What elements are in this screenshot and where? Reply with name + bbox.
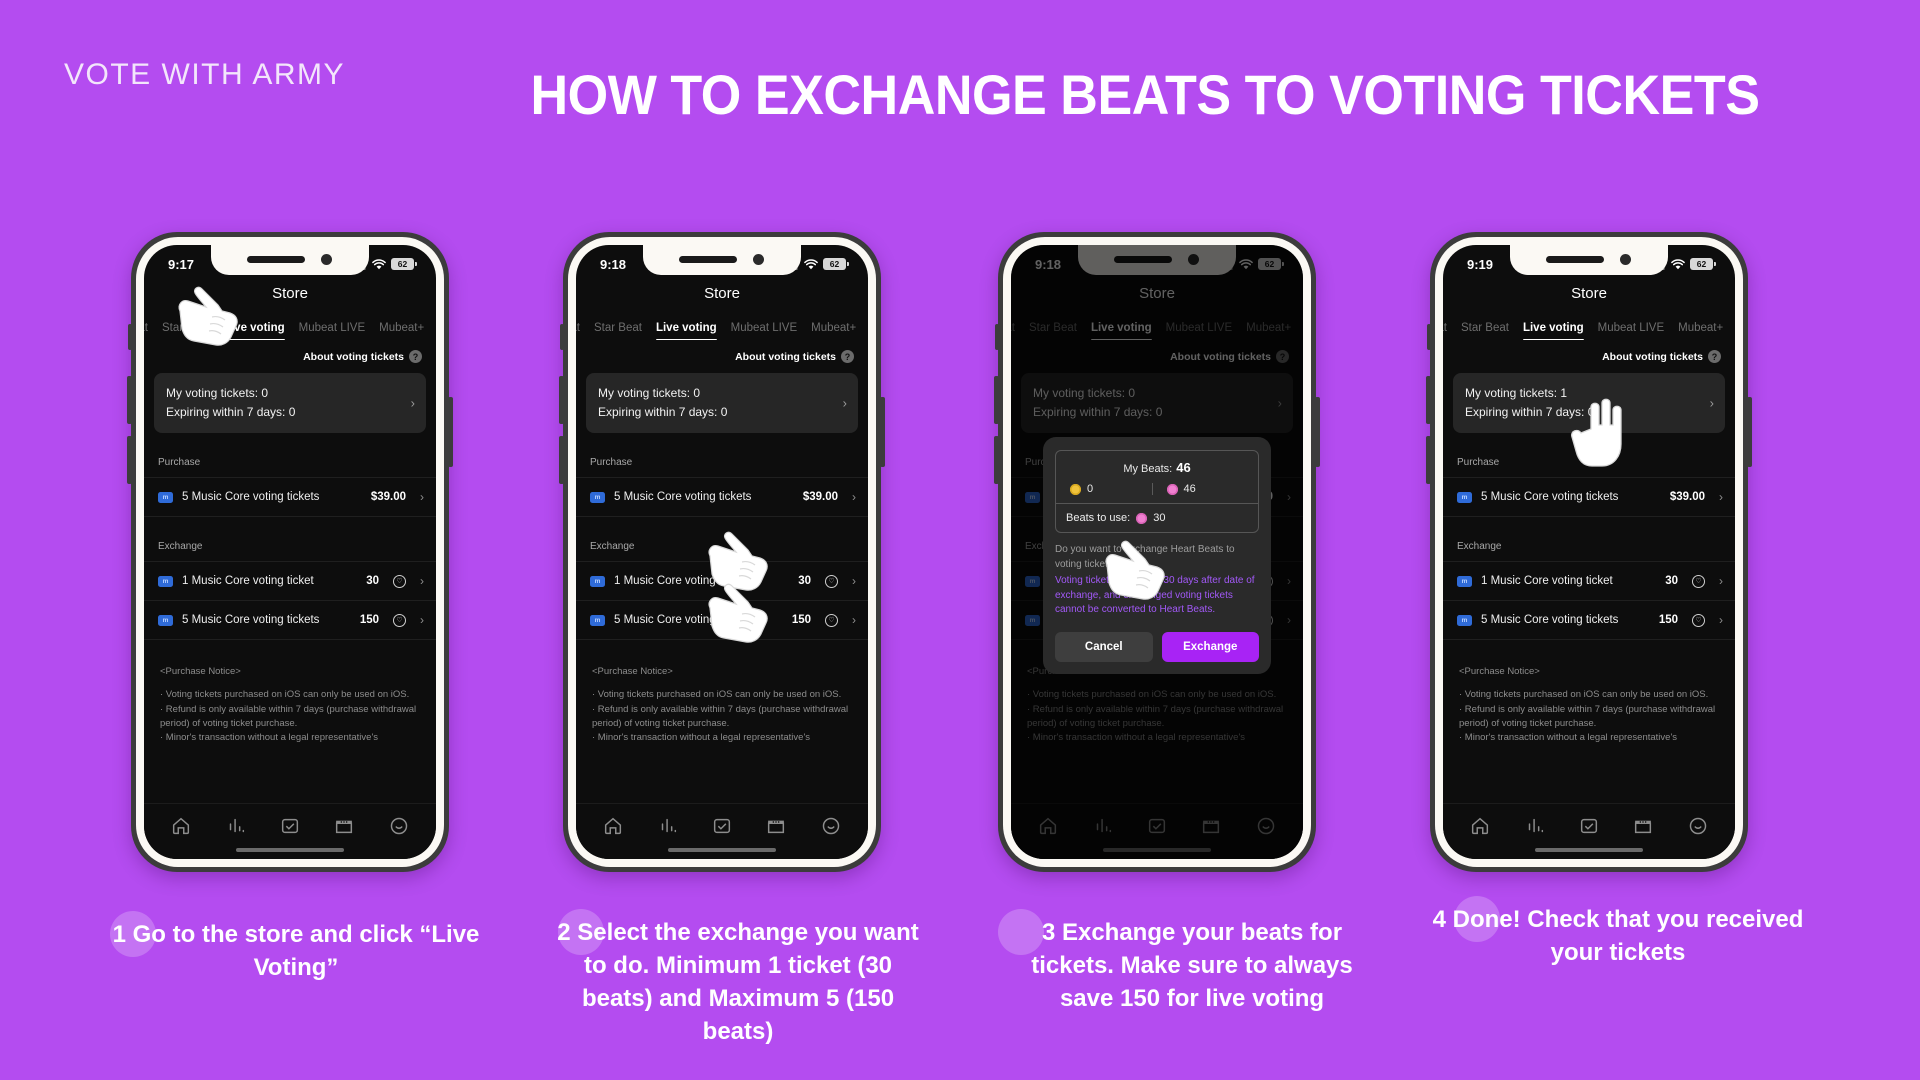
app-title: Store xyxy=(576,279,868,310)
store-icon[interactable] xyxy=(765,815,787,837)
exchange-item-label: 5 Music Core voting tickets xyxy=(1481,614,1650,626)
exchange-item-label: 1 Music Core voting ticket xyxy=(614,575,789,587)
chevron-right-icon[interactable]: › xyxy=(852,613,856,627)
tab-live-voting[interactable]: Live voting xyxy=(656,322,717,340)
exchange-item-label: 1 Music Core voting ticket xyxy=(1481,575,1656,587)
mute-switch[interactable] xyxy=(1427,324,1431,350)
exchange-item-price: 150 xyxy=(1659,614,1678,626)
exchange-item-label: 1 Music Core voting ticket xyxy=(182,575,357,587)
my-beats-label: My Beats: xyxy=(1123,463,1172,475)
purchase-notice: <Purchase Notice> · Voting tickets purch… xyxy=(1443,640,1735,745)
heart-beat-icon: ♡ xyxy=(1692,614,1705,627)
exchange-item-price: 150 xyxy=(792,614,811,626)
tab-live-voting[interactable]: Live voting xyxy=(224,322,285,340)
my-tickets-card[interactable]: My voting tickets: 1 Expiring within 7 d… xyxy=(1453,373,1725,433)
gold-beats-value: 0 xyxy=(1087,483,1093,495)
mubeat-ticket-icon: m xyxy=(1457,615,1472,626)
status-time: 9:18 xyxy=(600,257,626,272)
exchange-row-1[interactable]: m 1 Music Core voting ticket 30 ♡ › xyxy=(144,561,436,601)
poster-root: VOTE WITH ARMY HOW TO EXCHANGE BEATS TO … xyxy=(0,0,1920,1080)
pink-beats-value: 46 xyxy=(1184,483,1196,495)
page-title: HOW TO EXCHANGE BEATS TO VOTING TICKETS xyxy=(471,62,1820,127)
my-voting-tickets-line: My voting tickets: 1 xyxy=(1465,384,1713,403)
about-voting-tickets-link[interactable]: About voting tickets ? xyxy=(576,340,868,371)
power-button[interactable] xyxy=(1747,397,1752,467)
purchase-row[interactable]: m 5 Music Core voting tickets $39.00 › xyxy=(1443,477,1735,517)
question-mark-icon[interactable]: ? xyxy=(409,350,422,363)
mubeat-ticket-icon: m xyxy=(158,615,173,626)
wifi-icon xyxy=(372,259,386,270)
tab-bar: eat Star Beat Live voting Mubeat LIVE Mu… xyxy=(144,310,436,340)
exchange-item-label: 5 Music Core voting tickets xyxy=(182,614,351,626)
phone-screen: 9:17 62 Store eat Star Beat Live voting … xyxy=(144,245,436,859)
tab-star-beat[interactable]: Star Beat xyxy=(594,322,642,340)
mubeat-ticket-icon: m xyxy=(158,492,173,503)
chart-bars-icon[interactable] xyxy=(225,815,247,837)
notice-line: · Refund is only available within 7 days… xyxy=(1459,703,1719,731)
chevron-right-icon[interactable]: › xyxy=(420,490,424,504)
mubeat-ticket-icon: m xyxy=(590,615,605,626)
about-label: About voting tickets xyxy=(1602,351,1703,363)
notch xyxy=(643,245,801,275)
home-indicator xyxy=(668,848,776,852)
captions-row: 1 Go to the store and click “Live Voting… xyxy=(0,900,1920,1080)
step-number: 4 xyxy=(1433,906,1446,933)
caption-4: 4 Done! Check that you received your tic… xyxy=(1428,904,1808,970)
store-icon[interactable] xyxy=(1632,815,1654,837)
heart-beat-icon xyxy=(1167,484,1178,495)
modal-warning-text: Voting tickets will expire 30 days after… xyxy=(1055,574,1259,618)
phone-screen: 9:18 62 Store eat Star Beat Live voting … xyxy=(576,245,868,859)
tab-beat[interactable]: eat xyxy=(1443,322,1447,340)
section-purchase-label: Purchase xyxy=(576,433,868,477)
app-title: Store xyxy=(144,279,436,310)
exchange-row-1[interactable]: m 1 Music Core voting ticket 30 ♡ › xyxy=(576,561,868,601)
power-button[interactable] xyxy=(448,397,453,467)
my-voting-tickets-line: My voting tickets: 0 xyxy=(598,384,846,403)
modal-question-text: Do you want to exchange Heart Beats to v… xyxy=(1055,543,1259,572)
mubeat-ticket-icon: m xyxy=(1457,492,1472,503)
chevron-right-icon[interactable]: › xyxy=(1719,613,1723,627)
heart-beat-icon xyxy=(1136,513,1147,524)
purchase-row[interactable]: m 5 Music Core voting tickets $39.00 › xyxy=(576,477,868,517)
volume-up-button[interactable] xyxy=(994,376,999,424)
question-mark-icon[interactable]: ? xyxy=(841,350,854,363)
checkbox-icon[interactable] xyxy=(711,815,733,837)
step-number-circle xyxy=(1454,896,1500,942)
exchange-item-label: 5 Music Core voting tickets xyxy=(614,614,783,626)
mute-switch[interactable] xyxy=(128,324,132,350)
gold-beat-icon xyxy=(1070,484,1081,495)
notice-line: · Minor's transaction without a legal re… xyxy=(592,731,852,745)
my-tickets-card[interactable]: My voting tickets: 0 Expiring within 7 d… xyxy=(586,373,858,433)
exchange-item-price: 30 xyxy=(1665,575,1678,587)
tab-mubeat-live[interactable]: Mubeat LIVE xyxy=(731,322,797,340)
purchase-item-price: $39.00 xyxy=(371,491,406,503)
about-voting-tickets-link[interactable]: About voting tickets ? xyxy=(1443,340,1735,371)
exchange-item-price: 150 xyxy=(360,614,379,626)
beats-to-use-label: Beats to use: xyxy=(1066,512,1130,524)
notch xyxy=(211,245,369,275)
notice-line: · Refund is only available within 7 days… xyxy=(592,703,852,731)
notice-line: · Minor's transaction without a legal re… xyxy=(1459,731,1719,745)
phones-row: 9:17 62 Store eat Star Beat Live voting … xyxy=(0,232,1920,872)
heart-beat-icon: ♡ xyxy=(393,614,406,627)
tab-mubeat-plus[interactable]: Mubeat+ xyxy=(811,322,856,340)
checkbox-icon[interactable] xyxy=(1578,815,1600,837)
heart-beat-icon: ♡ xyxy=(825,575,838,588)
step-number: 2 xyxy=(557,919,570,946)
beats-summary-box: My Beats:46 0 46 xyxy=(1055,450,1259,533)
exchange-item-price: 30 xyxy=(798,575,811,587)
about-label: About voting tickets xyxy=(735,351,836,363)
bottom-navigation-bar xyxy=(1443,803,1735,859)
my-tickets-card[interactable]: My voting tickets: 0 Expiring within 7 d… xyxy=(154,373,426,433)
purchase-item-price: $39.00 xyxy=(1670,491,1705,503)
purchase-item-label: 5 Music Core voting tickets xyxy=(182,491,362,503)
home-icon[interactable] xyxy=(1469,815,1491,837)
step-number-circle xyxy=(998,909,1044,955)
chevron-right-icon[interactable]: › xyxy=(852,490,856,504)
caption-1: 1 Go to the store and click “Live Voting… xyxy=(110,919,482,985)
phone-mockup-3: 9:18 62 Store eat Star Beat Live voting … xyxy=(998,232,1316,872)
beats-to-use-value: 30 xyxy=(1153,512,1165,524)
battery-indicator: 62 xyxy=(391,258,414,270)
tab-beat[interactable]: eat xyxy=(576,322,580,340)
wifi-icon xyxy=(1671,259,1685,270)
home-indicator xyxy=(236,848,344,852)
pink-beats-group: 46 xyxy=(1152,483,1249,495)
battery-indicator: 62 xyxy=(1690,258,1713,270)
caption-2: 2 Select the exchange you want to do. Mi… xyxy=(548,917,928,1049)
chevron-right-icon[interactable]: › xyxy=(420,613,424,627)
bottom-navigation-bar xyxy=(576,803,868,859)
front-camera-icon xyxy=(1620,254,1631,265)
notice-line: · Voting tickets purchased on iOS can on… xyxy=(160,688,420,702)
chevron-right-icon[interactable]: › xyxy=(1719,490,1723,504)
mubeat-ticket-icon: m xyxy=(590,492,605,503)
mubeat-ticket-icon: m xyxy=(1457,576,1472,587)
tab-star-beat[interactable]: Star Beat xyxy=(1461,322,1509,340)
front-camera-icon xyxy=(321,254,332,265)
tab-live-voting[interactable]: Live voting xyxy=(1523,322,1584,340)
caption-text: Exchange your beats for tickets. Make su… xyxy=(1031,919,1353,1012)
volume-up-button[interactable] xyxy=(127,376,132,424)
tab-mubeat-live[interactable]: Mubeat LIVE xyxy=(1598,322,1664,340)
bottom-navigation-bar xyxy=(144,803,436,859)
tab-bar: eat Star Beat Live voting Mubeat LIVE Mu… xyxy=(576,310,868,340)
notice-title: <Purchase Notice> xyxy=(1459,666,1719,677)
purchase-row[interactable]: m 5 Music Core voting tickets $39.00 › xyxy=(144,477,436,517)
expiring-tickets-line: Expiring within 7 days: 0 xyxy=(598,403,846,422)
phone-screen: 9:18 62 Store eat Star Beat Live voting … xyxy=(1011,245,1303,859)
gold-beats-group: 0 xyxy=(1066,483,1152,495)
tab-beat[interactable]: eat xyxy=(144,322,148,340)
tab-star-beat[interactable]: Star Beat xyxy=(162,322,210,340)
phone-mockup-4: 9:19 62 Store eat Star Beat Live voting … xyxy=(1430,232,1748,872)
store-icon[interactable] xyxy=(333,815,355,837)
step-number: 3 xyxy=(1042,919,1055,946)
chevron-right-icon[interactable]: › xyxy=(852,574,856,588)
about-label: About voting tickets xyxy=(303,351,404,363)
purchase-item-label: 5 Music Core voting tickets xyxy=(1481,491,1661,503)
home-icon[interactable] xyxy=(602,815,624,837)
exchange-button[interactable]: Exchange xyxy=(1162,632,1260,662)
brand-label: VOTE WITH ARMY xyxy=(64,58,345,92)
exchange-row-2[interactable]: m 5 Music Core voting tickets 150 ♡ › xyxy=(576,601,868,640)
earpiece-speaker xyxy=(247,256,305,263)
notice-line: · Refund is only available within 7 days… xyxy=(160,703,420,731)
volume-up-button[interactable] xyxy=(1426,376,1431,424)
tab-mubeat-plus[interactable]: Mubeat+ xyxy=(379,322,424,340)
status-time: 9:17 xyxy=(168,257,194,272)
chevron-right-icon[interactable]: › xyxy=(411,396,415,411)
home-indicator xyxy=(1535,848,1643,852)
earpiece-speaker xyxy=(679,256,737,263)
smiley-icon[interactable] xyxy=(1687,815,1709,837)
caption-text: Select the exchange you want to do. Mini… xyxy=(577,919,918,1045)
purchase-notice: <Purchase Notice> · Voting tickets purch… xyxy=(576,640,868,745)
phone-screen: 9:19 62 Store eat Star Beat Live voting … xyxy=(1443,245,1735,859)
power-button[interactable] xyxy=(1315,397,1320,467)
volume-down-button[interactable] xyxy=(994,436,999,484)
chart-bars-icon[interactable] xyxy=(657,815,679,837)
tab-bar: eat Star Beat Live voting Mubeat LIVE Mu… xyxy=(1443,310,1735,340)
chevron-right-icon[interactable]: › xyxy=(420,574,424,588)
notice-title: <Purchase Notice> xyxy=(160,666,420,677)
question-mark-icon[interactable]: ? xyxy=(1708,350,1721,363)
notice-line: · Voting tickets purchased on iOS can on… xyxy=(1459,688,1719,702)
volume-down-button[interactable] xyxy=(559,436,564,484)
battery-indicator: 62 xyxy=(823,258,846,270)
volume-down-button[interactable] xyxy=(127,436,132,484)
my-voting-tickets-line: My voting tickets: 0 xyxy=(166,384,414,403)
my-beats-value: 46 xyxy=(1176,460,1190,475)
tab-mubeat-live[interactable]: Mubeat LIVE xyxy=(299,322,365,340)
purchase-item-price: $39.00 xyxy=(803,491,838,503)
smiley-icon[interactable] xyxy=(388,815,410,837)
exchange-row-2[interactable]: m 5 Music Core voting tickets 150 ♡ › xyxy=(1443,601,1735,640)
earpiece-speaker xyxy=(1546,256,1604,263)
phone-mockup-1: 9:17 62 Store eat Star Beat Live voting … xyxy=(131,232,449,872)
section-exchange-label: Exchange xyxy=(1443,517,1735,561)
notice-line: · Voting tickets purchased on iOS can on… xyxy=(592,688,852,702)
wifi-icon xyxy=(804,259,818,270)
section-purchase-label: Purchase xyxy=(1443,433,1735,477)
section-exchange-label: Exchange xyxy=(144,517,436,561)
checkbox-icon[interactable] xyxy=(279,815,301,837)
smiley-icon[interactable] xyxy=(820,815,842,837)
exchange-item-price: 30 xyxy=(366,575,379,587)
volume-up-button[interactable] xyxy=(559,376,564,424)
exchange-confirm-dialog: My Beats:46 0 46 xyxy=(1043,437,1271,674)
beats-to-use-row: Beats to use: 30 xyxy=(1056,503,1258,532)
caption-text: Done! Check that you received your ticke… xyxy=(1453,906,1804,966)
home-icon[interactable] xyxy=(170,815,192,837)
chevron-right-icon[interactable]: › xyxy=(1710,396,1714,411)
mubeat-ticket-icon: m xyxy=(590,576,605,587)
expiring-tickets-line: Expiring within 7 days: 0 xyxy=(1465,403,1713,422)
power-button[interactable] xyxy=(880,397,885,467)
heart-beat-icon: ♡ xyxy=(1692,575,1705,588)
step-number: 1 xyxy=(113,921,126,948)
volume-down-button[interactable] xyxy=(1426,436,1431,484)
my-beats-row: My Beats:46 xyxy=(1066,460,1248,475)
heart-beat-icon: ♡ xyxy=(825,614,838,627)
cancel-button[interactable]: Cancel xyxy=(1055,632,1153,662)
front-camera-icon xyxy=(753,254,764,265)
mute-switch[interactable] xyxy=(995,324,999,350)
chart-bars-icon[interactable] xyxy=(1524,815,1546,837)
chevron-right-icon[interactable]: › xyxy=(843,396,847,411)
exchange-row-1[interactable]: m 1 Music Core voting ticket 30 ♡ › xyxy=(1443,561,1735,601)
chevron-right-icon[interactable]: › xyxy=(1719,574,1723,588)
about-voting-tickets-link[interactable]: About voting tickets ? xyxy=(144,340,436,371)
notch xyxy=(1510,245,1668,275)
caption-3: 3 Exchange your beats for tickets. Make … xyxy=(1002,917,1382,1016)
exchange-row-2[interactable]: m 5 Music Core voting tickets 150 ♡ › xyxy=(144,601,436,640)
purchase-item-label: 5 Music Core voting tickets xyxy=(614,491,794,503)
mubeat-ticket-icon: m xyxy=(158,576,173,587)
notice-title: <Purchase Notice> xyxy=(592,666,852,677)
notice-line: · Minor's transaction without a legal re… xyxy=(160,731,420,745)
app-title: Store xyxy=(1443,279,1735,310)
heart-beat-icon: ♡ xyxy=(393,575,406,588)
status-time: 9:19 xyxy=(1467,257,1493,272)
purchase-notice: <Purchase Notice> · Voting tickets purch… xyxy=(144,640,436,745)
tab-mubeat-plus[interactable]: Mubeat+ xyxy=(1678,322,1723,340)
caption-text: Go to the store and click “Live Voting” xyxy=(133,921,480,981)
expiring-tickets-line: Expiring within 7 days: 0 xyxy=(166,403,414,422)
mute-switch[interactable] xyxy=(560,324,564,350)
section-exchange-label: Exchange xyxy=(576,517,868,561)
phone-mockup-2: 9:18 62 Store eat Star Beat Live voting … xyxy=(563,232,881,872)
section-purchase-label: Purchase xyxy=(144,433,436,477)
